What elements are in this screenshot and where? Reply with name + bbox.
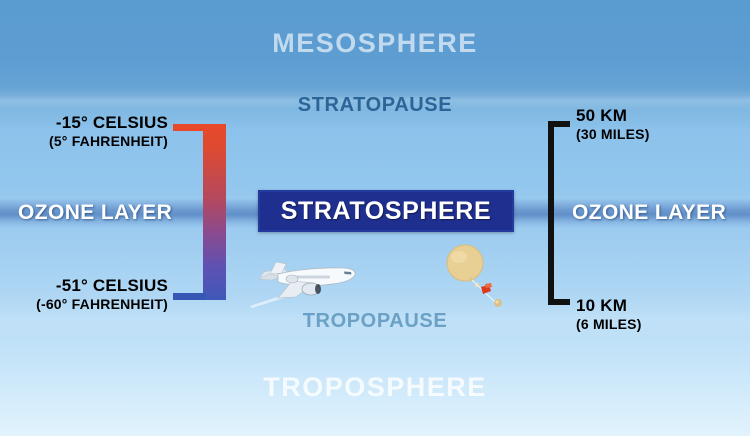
temperature-tick-bottom — [173, 293, 206, 300]
stratosphere-infographic: MESOSPHERE STRATOPAUSE TROPOPAUSE TROPOS… — [0, 0, 750, 436]
temperature-label-top: -15° CELSIUS (5° FAHRENHEIT) — [0, 113, 168, 150]
temperature-bottom-celsius: -51° CELSIUS — [0, 276, 168, 296]
altitude-top-miles: (30 MILES) — [576, 126, 650, 143]
temperature-bottom-fahrenheit: (-60° FAHRENHEIT) — [0, 296, 168, 313]
altitude-label-top: 50 KM (30 MILES) — [576, 106, 650, 143]
ozone-layer-label-left: OZONE LAYER — [18, 201, 172, 225]
temperature-top-fahrenheit: (5° FAHRENHEIT) — [0, 133, 168, 150]
temperature-gradient-bar — [203, 124, 226, 300]
ozone-layer-label-right: OZONE LAYER — [572, 201, 726, 225]
altitude-bottom-miles: (6 MILES) — [576, 316, 642, 333]
temperature-tick-top — [173, 124, 206, 131]
balloon-icon — [441, 243, 511, 309]
altitude-bracket — [548, 121, 570, 305]
temperature-label-bottom: -51° CELSIUS (-60° FAHRENHEIT) — [0, 276, 168, 313]
altitude-bottom-km: 10 KM — [576, 296, 642, 316]
altitude-top-km: 50 KM — [576, 106, 650, 126]
altitude-label-bottom: 10 KM (6 MILES) — [576, 296, 642, 333]
stratosphere-title-box: STRATOSPHERE — [258, 190, 514, 232]
temperature-top-celsius: -15° CELSIUS — [0, 113, 168, 133]
mesosphere-label: MESOSPHERE — [0, 28, 750, 59]
airplane-icon — [248, 248, 364, 310]
troposphere-label: TROPOSPHERE — [0, 372, 750, 403]
stratosphere-title-text: STRATOSPHERE — [281, 197, 491, 226]
